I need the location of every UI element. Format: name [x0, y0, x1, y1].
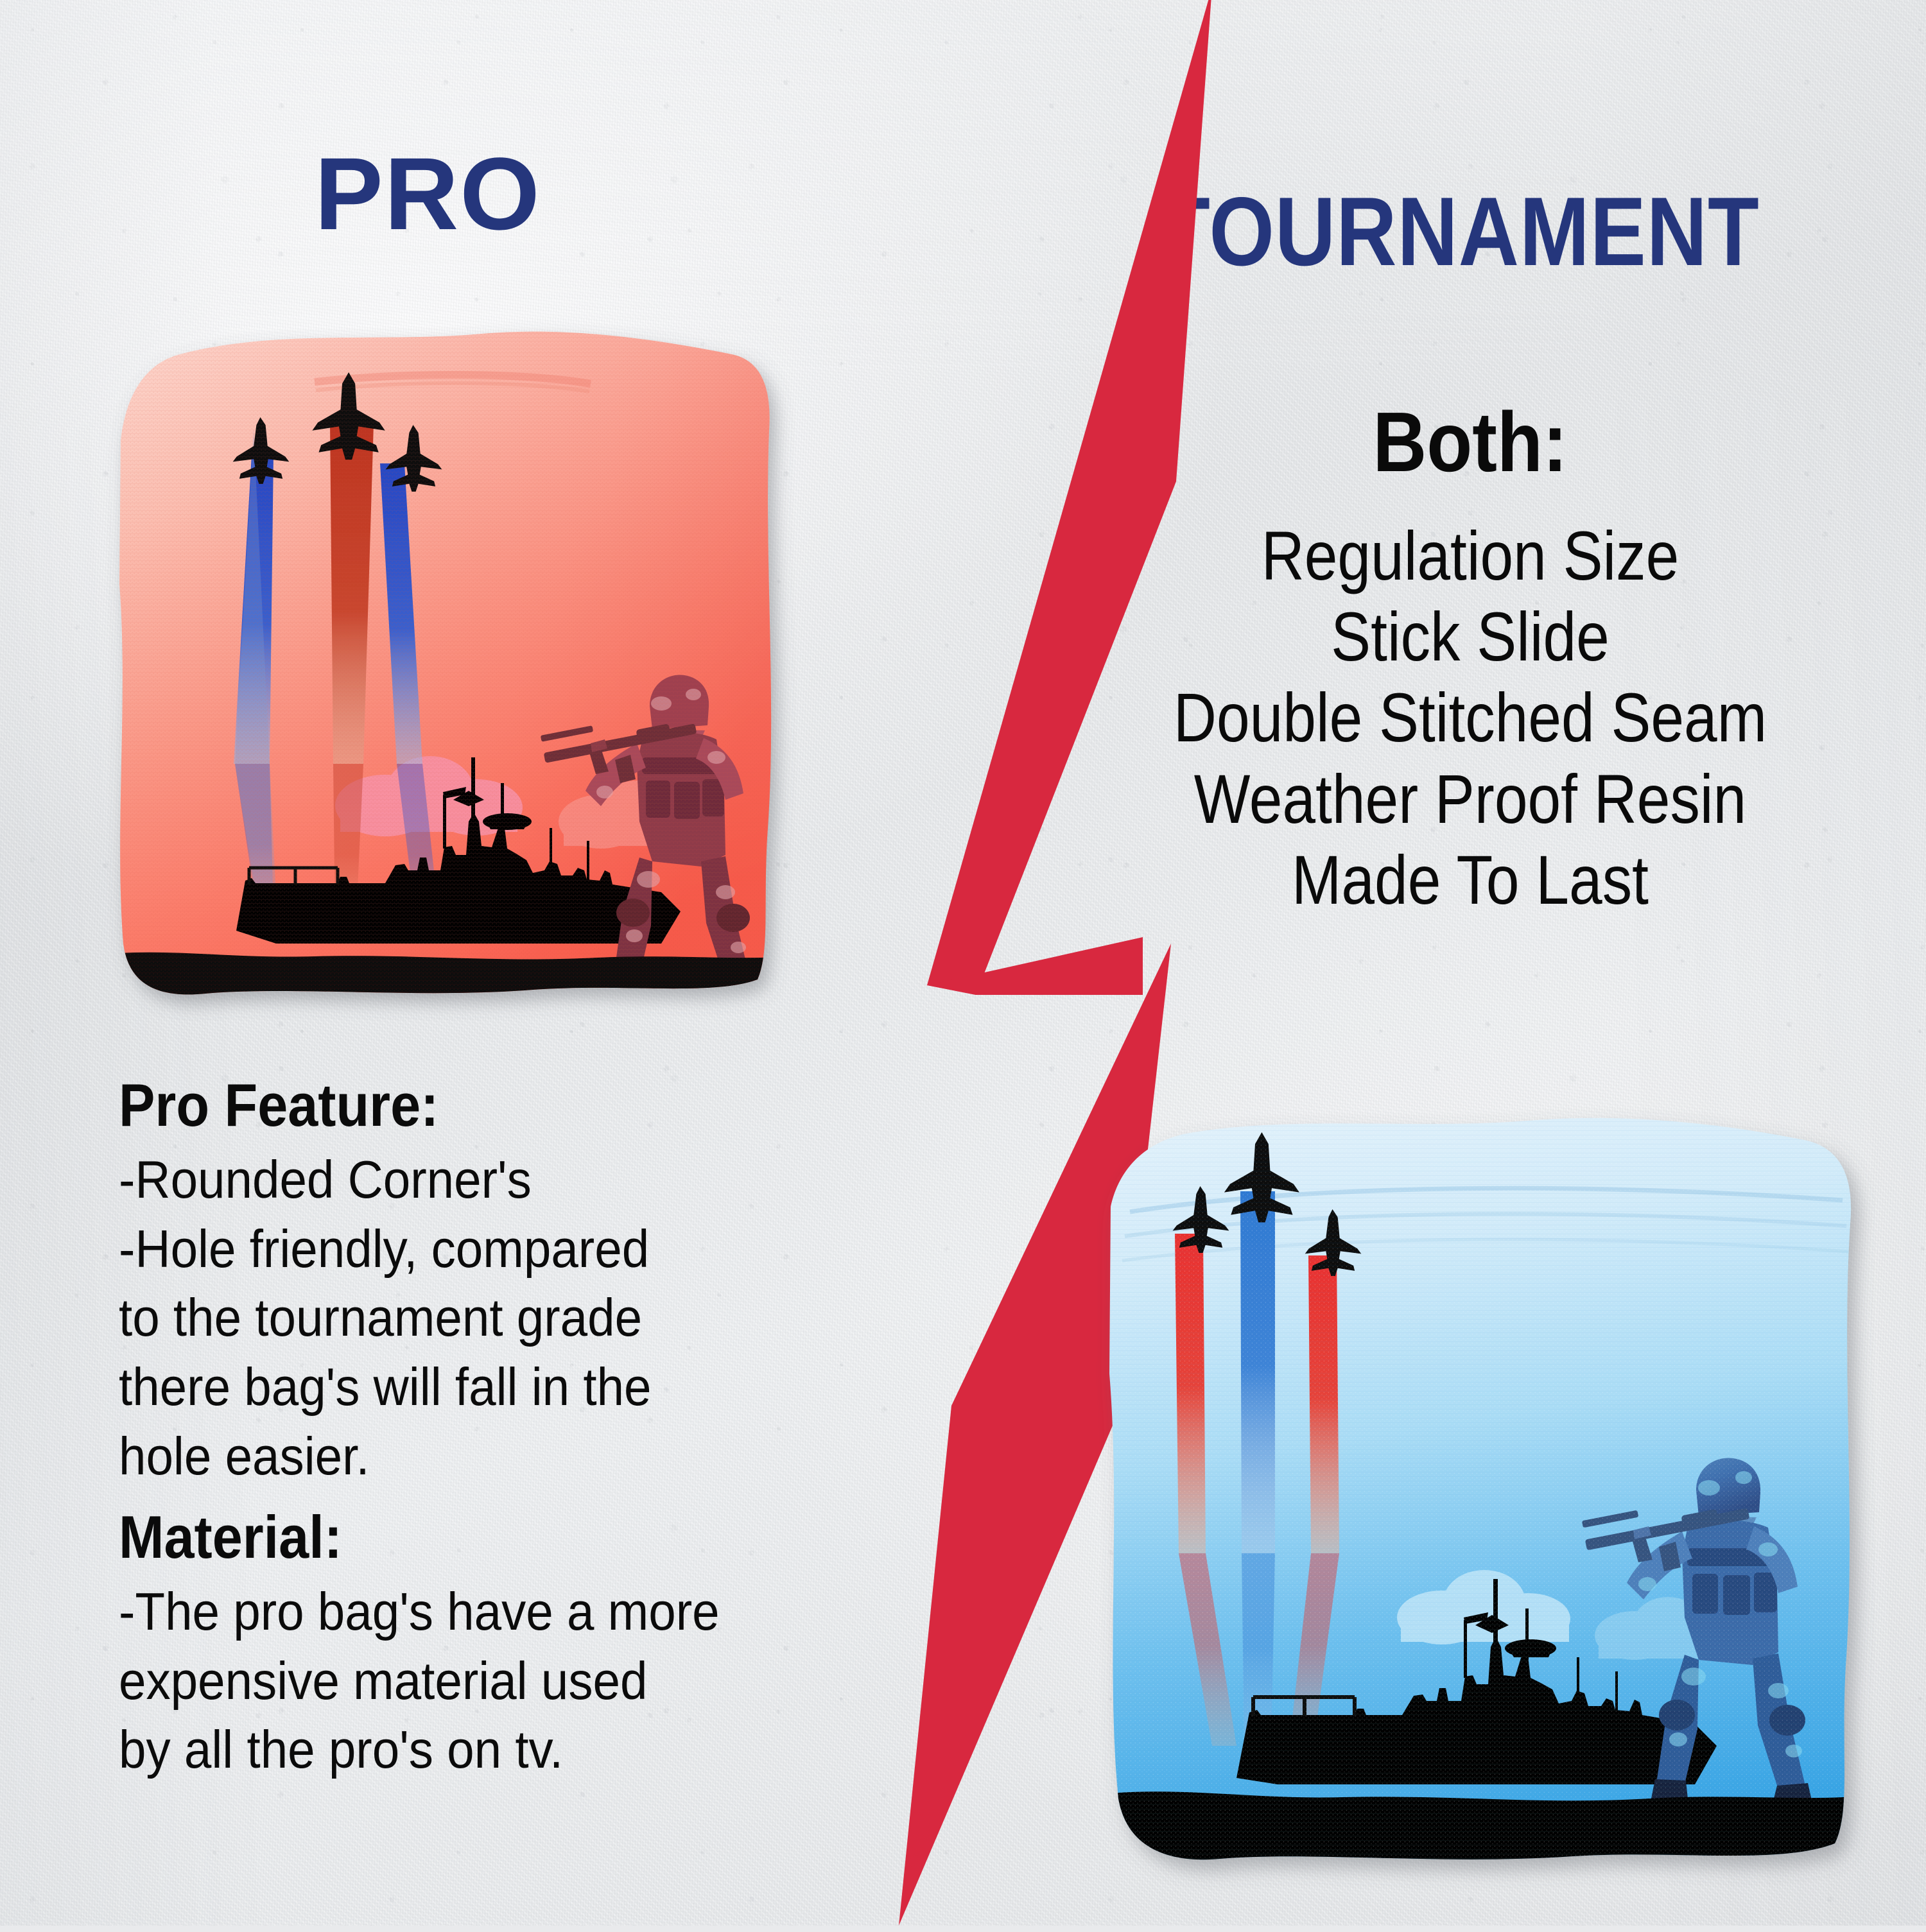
- pro-bag-image: [83, 315, 802, 1021]
- tournament-bag-artwork: [1085, 1104, 1875, 1893]
- material-line-1: expensive material used: [119, 1646, 686, 1716]
- pro-feature-section: Pro Feature: -Rounded Corner's -Hole fri…: [119, 1073, 735, 1491]
- both-feature-4: Made To Last: [1100, 840, 1840, 920]
- both-feature-2: Double Stitched Seam: [1100, 677, 1840, 758]
- pro-feature-line-3: there bag's will fall in the: [119, 1352, 686, 1422]
- pro-feature-line-2: to the tournament grade: [119, 1283, 686, 1352]
- material-section: Material: -The pro bag's have a more exp…: [119, 1505, 735, 1784]
- material-line-2: by all the pro's on tv.: [119, 1715, 686, 1784]
- both-features-block: Both: Regulation Size Stick Slide Double…: [1040, 398, 1900, 920]
- both-heading: Both:: [1091, 398, 1848, 487]
- material-line-0: -The pro bag's have a more: [119, 1577, 686, 1646]
- pro-feature-line-1: -Hole friendly, compared: [119, 1214, 686, 1284]
- material-heading: Material:: [119, 1505, 673, 1569]
- tournament-bag-image: [1085, 1104, 1875, 1893]
- both-feature-0: Regulation Size: [1100, 515, 1840, 596]
- both-feature-3: Weather Proof Resin: [1100, 759, 1840, 840]
- both-feature-1: Stick Slide: [1100, 596, 1840, 677]
- pro-fabric-texture: [83, 315, 802, 1021]
- pro-feature-line-4: hole easier.: [119, 1422, 686, 1491]
- tournament-title: TOURNAMENT: [1159, 183, 1760, 280]
- pro-bag-artwork: [83, 315, 802, 1021]
- tournament-fabric-texture: [1085, 1104, 1875, 1893]
- pro-feature-heading: Pro Feature:: [119, 1073, 673, 1137]
- pro-title: PRO: [315, 142, 541, 245]
- pro-feature-line-0: -Rounded Corner's: [119, 1145, 686, 1214]
